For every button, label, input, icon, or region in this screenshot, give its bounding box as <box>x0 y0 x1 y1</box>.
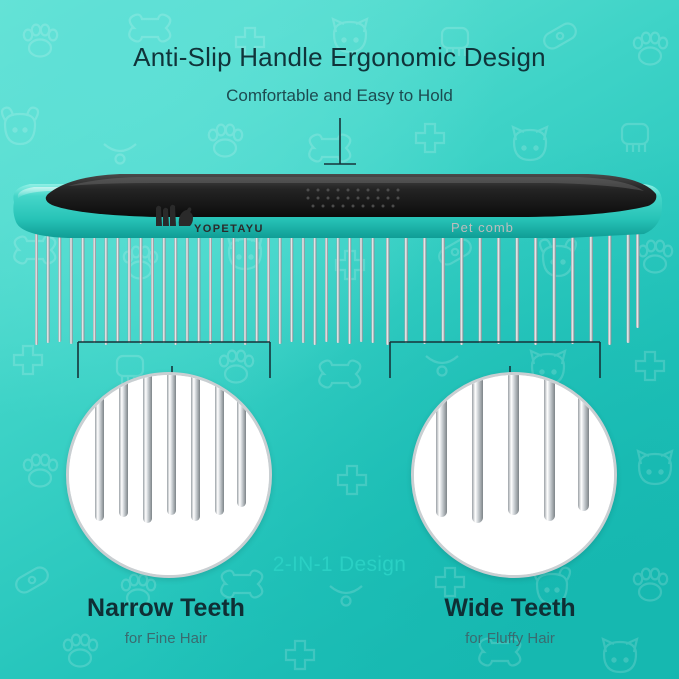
narrow-teeth-zoom-circle <box>66 372 272 578</box>
brand-name: YOPETAYU <box>194 223 264 235</box>
two-in-one-label: 2-IN-1 Design <box>0 553 679 577</box>
narrow-teeth-caption: for Fine Hair <box>16 630 316 647</box>
product-infographic: Anti-Slip Handle Ergonomic Design Comfor… <box>0 0 679 679</box>
page-subtitle: Comfortable and Easy to Hold <box>0 86 679 106</box>
pet-comb-product: YOPETAYU Pet comb <box>8 160 671 350</box>
wide-teeth-zoom-circle <box>411 372 617 578</box>
wide-teeth-title: Wide Teeth <box>360 594 660 623</box>
wide-teeth-caption: for Fluffy Hair <box>360 630 660 647</box>
narrow-teeth-title: Narrow Teeth <box>16 594 316 623</box>
comb-teeth <box>35 232 639 345</box>
anti-slip-grip <box>46 174 657 217</box>
side-text: Pet comb <box>451 220 514 235</box>
page-title: Anti-Slip Handle Ergonomic Design <box>0 42 679 73</box>
